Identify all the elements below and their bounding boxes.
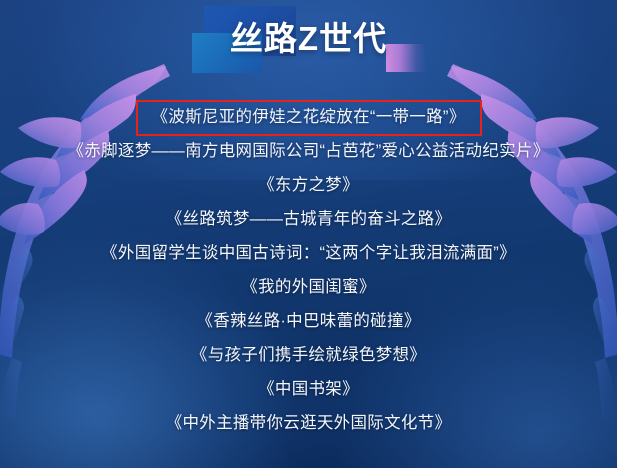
list-item[interactable]: 《波斯尼亚的伊娃之花绽放在“一带一路”》 bbox=[0, 100, 617, 134]
highlighted-item-label: 《波斯尼亚的伊娃之花绽放在“一带一路”》 bbox=[136, 100, 482, 136]
list-item-label: 《中外主播带你云逛天外国际文化节》 bbox=[166, 414, 452, 432]
list-item-label: 《与孩子们携手绘就绿色梦想》 bbox=[191, 346, 426, 364]
list-item-label: 《香辣丝路·中巴味蕾的碰撞》 bbox=[196, 312, 420, 330]
list-item-label: 《我的外国闺蜜》 bbox=[241, 278, 375, 296]
list-item[interactable]: 《外国留学生谈中国古诗词：“这两个字让我泪流满面”》 bbox=[0, 236, 617, 270]
list-item[interactable]: 《中国书架》 bbox=[0, 372, 617, 406]
list-item-label: 《赤脚逐梦——南方电网国际公司“占芭花”爱心公益活动纪实片》 bbox=[68, 142, 550, 160]
list-item[interactable]: 《我的外国闺蜜》 bbox=[0, 270, 617, 304]
slide-canvas: 丝路Z世代 《波斯尼亚的伊娃之花绽放在“一带一路”》《赤脚逐梦——南方电网国际公… bbox=[0, 0, 617, 468]
list-item[interactable]: 《与孩子们携手绘就绿色梦想》 bbox=[0, 338, 617, 372]
list-item-label: 《中国书架》 bbox=[258, 380, 359, 398]
list-item[interactable]: 《丝路筑梦——古城青年的奋斗之路》 bbox=[0, 202, 617, 236]
list-item-label: 《丝路筑梦——古城青年的奋斗之路》 bbox=[166, 210, 452, 228]
list-item-label: 《外国留学生谈中国古诗词：“这两个字让我泪流满面”》 bbox=[101, 244, 516, 262]
list-item[interactable]: 《赤脚逐梦——南方电网国际公司“占芭花”爱心公益活动纪实片》 bbox=[0, 134, 617, 168]
list-item-label: 《东方之梦》 bbox=[258, 176, 359, 194]
page-title: 丝路Z世代 bbox=[0, 17, 617, 61]
list-item[interactable]: 《东方之梦》 bbox=[0, 168, 617, 202]
program-list: 《波斯尼亚的伊娃之花绽放在“一带一路”》《赤脚逐梦——南方电网国际公司“占芭花”… bbox=[0, 100, 617, 440]
list-item[interactable]: 《香辣丝路·中巴味蕾的碰撞》 bbox=[0, 304, 617, 338]
list-item[interactable]: 《中外主播带你云逛天外国际文化节》 bbox=[0, 406, 617, 440]
